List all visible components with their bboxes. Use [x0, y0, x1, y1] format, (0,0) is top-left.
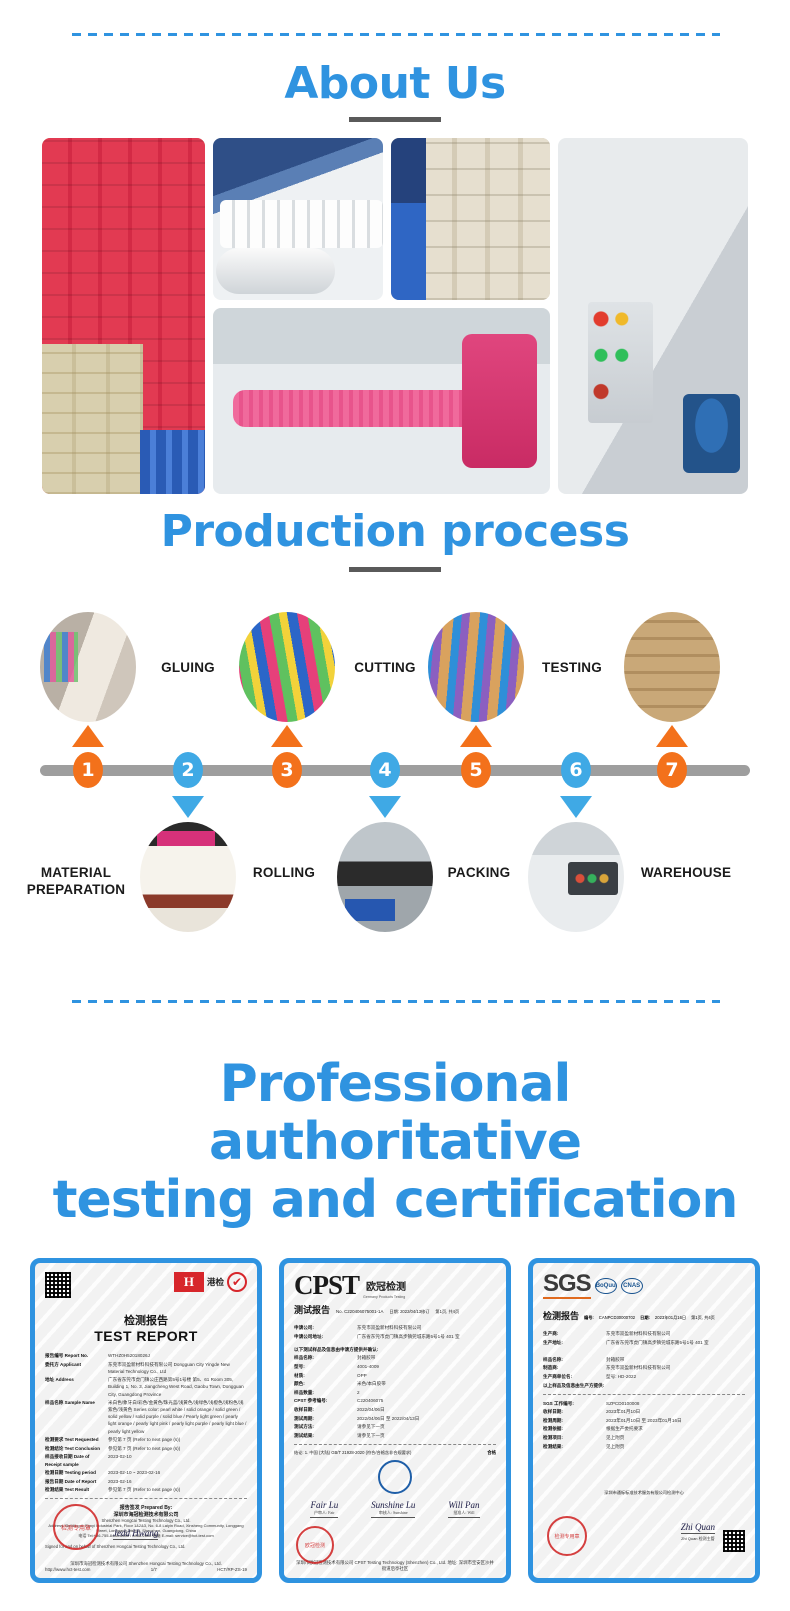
field-value: 见上附页 [606, 1443, 745, 1450]
blue-round-seal [378, 1460, 412, 1494]
cpst-report-no: No. C220406075001-1A [336, 1309, 383, 1314]
table-row: 检测周期:2023年01月10日 至 2023年01月16日 [543, 1417, 745, 1424]
table-row: 生产地址:广东省东莞市虎门镇高步镇莞城东路5号1号 401 室 [543, 1339, 745, 1346]
signature-role: 批准人: Will [448, 1510, 479, 1516]
field-value: 2022/04/06日 至 2022/04/13日 [357, 1415, 496, 1422]
cpst-date: 日期: 2022/04/13修订 [389, 1309, 429, 1315]
field-value: 东莞市双盈新材料科技有限公司 [357, 1324, 496, 1331]
certificate-field-rows: 报告编号 Report No.WTHZ0H52018026J 委托方 Appli… [45, 1352, 247, 1493]
step-label-testing: TESTING [507, 660, 637, 677]
field-value: 2023-02-10 ~ 2023-02-16 [108, 1469, 247, 1476]
table-row: 样品名称:封箱胶带 [543, 1356, 745, 1363]
step-pointer-up-3 [271, 725, 303, 747]
field-key: 检测要求 Test Requested [45, 1436, 103, 1443]
field-key: 以下测试样品及信息由申请方提供并确认: [294, 1346, 496, 1353]
red-company-stamp: 欧冠检测 [296, 1526, 334, 1564]
sgs-footer-note: 深圳市通标标准技术服务有限公司检测中心 [543, 1490, 745, 1496]
red-company-stamp: 检测专用章 [53, 1504, 99, 1550]
field-value: 2023-02-10 [108, 1453, 247, 1467]
step-image-testing [528, 822, 624, 932]
table-row: 报告编号 Report No.WTHZ0H52018026J [45, 1352, 247, 1359]
certificate-test-report[interactable]: H 港检 ✔ 检测报告 TEST REPORT 报告编号 Report No.W… [30, 1258, 262, 1583]
certificate-cpst-report[interactable]: CPST 欧冠检测 Germany Products Testing 测试报告 … [279, 1258, 511, 1583]
field-value: SZPCD0100008 [606, 1400, 745, 1407]
table-row: 检测日期 Testing period2023-02-10 ~ 2023-02-… [45, 1469, 247, 1476]
certificate-field-rows: 申请公司:东莞市双盈新材料科技有限公司 申请公司地址:广东省东莞市虎门镇高步镇莞… [294, 1324, 496, 1439]
table-row: 检测依据:根据生产委托要求 [543, 1425, 745, 1432]
field-value: 东莞市双盈新材料科技有限公司 [606, 1364, 745, 1371]
field-key: 地址 Address [45, 1376, 103, 1397]
step-pointer-up-1 [72, 725, 104, 747]
table-row: 以上样品及信息由生产方提供: [543, 1382, 745, 1389]
photo-white-tape-roll-stacks [391, 138, 550, 300]
field-value: 2022/04/06日 [357, 1406, 496, 1413]
table-row: 型号:4001-4009 [294, 1363, 496, 1370]
table-row: 颜色:米色/本白胶带 [294, 1380, 496, 1387]
field-key: 型号: [294, 1363, 352, 1370]
field-value: C220406075 [357, 1397, 496, 1404]
cpst-brand-cn: 欧冠检测 [366, 1282, 406, 1293]
qr-code-icon [723, 1530, 745, 1552]
divider [543, 1394, 745, 1395]
signature: Zhi Quan [681, 1522, 715, 1534]
table-row: 检测项目:见上附页 [543, 1434, 745, 1441]
field-key: 检测周期: [543, 1417, 601, 1424]
field-value: 2023年01月10日 至 2023年01月16日 [606, 1417, 745, 1424]
field-value: 东莞市双盈新材料科技有限公司 [606, 1330, 745, 1337]
field-key: 颜色: [294, 1380, 352, 1387]
about-us-heading: About Us [0, 62, 790, 106]
signature-role: 户审人: Fair [310, 1510, 338, 1516]
step-number-3[interactable]: 3 [272, 752, 302, 788]
table-row: 材质:OPP [294, 1372, 496, 1379]
field-value: 封箱胶带 [357, 1354, 496, 1361]
field-key: 报告编号 Report No. [45, 1352, 103, 1359]
signature-will-pan: Will Pan批准人: Will [448, 1500, 479, 1518]
field-key: 测试方法: [294, 1423, 352, 1430]
sgs-page: 第1页, 共4页 [691, 1315, 715, 1321]
cpst-title-cn: 测试报告 [294, 1303, 330, 1316]
step-label-warehouse: WAREHOUSE [621, 865, 751, 882]
field-key: 生产商单位名: [543, 1373, 601, 1380]
field-key: 样品名称: [543, 1356, 601, 1363]
boqu-accreditation-icon: BoQuu [595, 1278, 617, 1294]
mid-dashed-divider [72, 1000, 720, 1003]
field-key: SGS 工作编号: [543, 1400, 601, 1407]
qr-code-icon [45, 1272, 71, 1298]
sgs-title-cn: 检测报告 [543, 1309, 579, 1322]
field-value: 根据生产委托要求 [606, 1425, 745, 1432]
about-us-photo-collage [42, 138, 748, 494]
table-row: 申请公司地址:广东省东莞市虎门镇高步镇莞城东路5号1号 401 室 [294, 1333, 496, 1340]
cpst-page: 第1页, 共4页 [435, 1309, 459, 1315]
field-key: 检测结果 Test Result [45, 1486, 103, 1493]
step-pointer-down-6 [560, 796, 592, 818]
field-key: 样品名称 Sample Name [45, 1399, 103, 1435]
table-row: 生产商:东莞市双盈新材料科技有限公司 [543, 1330, 745, 1337]
cpst-brand-logo: CPST [294, 1272, 359, 1299]
sgs-report-no: CANPCD30000702 [599, 1315, 635, 1320]
photo-control-panel-production-line [558, 138, 748, 494]
field-value: 见上附页 [606, 1434, 745, 1441]
table-row: 样品名称:封箱胶带 [294, 1354, 496, 1361]
table-row: 样品接收日期 Date of Receipt sample2023-02-10 [45, 1453, 247, 1467]
field-value: 东莞市双盈新材料科技有限公司 Dongguan City Yingde New … [108, 1361, 247, 1375]
field-value: 参见第 7 页 (Refer to next page (s)) [108, 1445, 247, 1452]
field-key: 收样日期: [294, 1406, 352, 1413]
field-value: 4001-4009 [357, 1363, 496, 1370]
table-row: 测试周期:2022/04/06日 至 2022/04/13日 [294, 1415, 496, 1422]
field-value: 参见第 7 页 (Refer to next page (s)) [108, 1486, 247, 1493]
hk-brand-logo: H [174, 1272, 204, 1292]
field-value: 米色/本白胶带 [357, 1380, 496, 1387]
certification-heading-line1: Professional authoritative [209, 1054, 581, 1172]
table-row: 收样日期:2023年01月10日 [543, 1408, 745, 1415]
field-key: 材质: [294, 1372, 352, 1379]
field-value: WTHZ0H52018026J [108, 1352, 247, 1359]
field-key: 测试结果: [294, 1432, 352, 1439]
field-key: 检测结果: [543, 1443, 601, 1450]
cnas-accreditation-icon: CNAS [621, 1278, 643, 1294]
step-number-4[interactable]: 4 [370, 752, 400, 788]
certificates-row: H 港检 ✔ 检测报告 TEST REPORT 报告编号 Report No.W… [30, 1258, 760, 1583]
cpst-pass-badge: 合格 [487, 1450, 496, 1456]
top-dashed-divider [72, 33, 720, 36]
photo-colored-tape-rolls-warehouse [42, 138, 205, 494]
field-key: 以上样品及信息由生产方提供: [543, 1382, 745, 1389]
field-key: 申请公司地址: [294, 1333, 352, 1340]
field-value: 参见第 7 页 (Refer to next page (s)) [108, 1436, 247, 1443]
field-key: 报告日期 Date of Report [45, 1478, 103, 1485]
step-label-packing: PACKING [414, 865, 544, 882]
step-label-gluing: GLUING [123, 660, 253, 677]
field-key: 制造商: [543, 1364, 601, 1371]
signature-role: 审核人: Sunshine [371, 1510, 415, 1516]
field-key: 检测日期 Testing period [45, 1469, 103, 1476]
field-key: 检测依据: [543, 1425, 601, 1432]
step-number-2[interactable]: 2 [173, 752, 203, 788]
table-row: 检测要求 Test Requested参见第 7 页 (Refer to nex… [45, 1436, 247, 1443]
cpst-conclusion: 结论: 1. 中国 (大陆) GB/T 21928-2020 (符合/合格含非合… [294, 1450, 411, 1456]
field-key: 样品接收日期 Date of Receipt sample [45, 1453, 103, 1467]
table-row: 生产商单位名:型号: HD-2022 [543, 1373, 745, 1380]
certification-heading-line2: testing and certification [53, 1170, 738, 1230]
field-value: 广东省东莞市虎门镇高步镇莞城东路5号1号 401 室 [606, 1339, 745, 1346]
field-key: 委托方 Applicant [45, 1361, 103, 1375]
signature-sunshine-lu: Sunshine Lu审核人: Sunshine [371, 1500, 415, 1518]
step-number-7[interactable]: 7 [657, 752, 687, 788]
hk-brand-cn: 港检 [207, 1276, 224, 1288]
certificate-field-rows: 生产商:东莞市双盈新材料科技有限公司 生产地址:广东省东莞市虎门镇高步镇莞城东路… [543, 1330, 745, 1450]
production-timeline: 1 MATERIALPREPARATION 2 GLUING 3 ROLLING… [0, 600, 790, 930]
sgs-brand-logo: SGS [543, 1272, 591, 1299]
field-key: 样品名称: [294, 1354, 352, 1361]
footer-page: 1/7 [151, 1567, 157, 1572]
cpst-brand-sub: Germany Products Testing [363, 1295, 406, 1299]
field-value: 请参见下一页 [357, 1432, 496, 1439]
signature: Jedd Hwang [113, 1528, 158, 1540]
field-key: 生产商: [543, 1330, 601, 1337]
sgs-report-no-label: 编号: [584, 1315, 594, 1321]
step-pointer-up-7 [656, 725, 688, 747]
step-number-1[interactable]: 1 [73, 752, 103, 788]
table-row: 检测结果:见上附页 [543, 1443, 745, 1450]
field-value: 型号: HD-2022 [606, 1373, 745, 1380]
table-row: 申请公司:东莞市双盈新材料科技有限公司 [294, 1324, 496, 1331]
field-value: 封箱胶带 [606, 1356, 745, 1363]
field-key: 样品数量: [294, 1389, 352, 1396]
certification-heading: Professional authoritative testing and c… [0, 1055, 790, 1230]
table-row: CPST 参考编号:C220406075 [294, 1397, 496, 1404]
sgs-date-label: 日期: [640, 1315, 650, 1321]
field-value: 2023年01月10日 [606, 1408, 745, 1415]
table-row: 报告日期 Date of Report2023-02-16 [45, 1478, 247, 1485]
field-value: 请参见下一页 [357, 1423, 496, 1430]
field-key: 测试周期: [294, 1415, 352, 1422]
table-row: SGS 工作编号:SZPCD0100008 [543, 1400, 745, 1407]
photo-slitting-machine-white-tape [213, 138, 383, 300]
step-number-6[interactable]: 6 [561, 752, 591, 788]
step-label-rolling: ROLLING [219, 865, 349, 882]
field-value: 广东省东莞市虎门镇公庄西路第5号1号楼 第5、61 Room 305, Buil… [108, 1376, 247, 1397]
field-value: 米白色/象牙白/彩色/金黄色/珠光蓝/浅黄色/浅绿色/浅橙色/浅粉色/浅紫色/浅… [108, 1399, 247, 1435]
field-value: 广东省东莞市虎门镇高步镇莞城东路5号1号 401 室 [357, 1333, 496, 1340]
footer-doc-code: HCT/RP-ZS-19 [217, 1567, 247, 1572]
step-pointer-down-2 [172, 796, 204, 818]
table-row: 地址 Address广东省东莞市虎门镇公庄西路第5号1号楼 第5、61 Room… [45, 1376, 247, 1397]
field-key: 检测项目: [543, 1434, 601, 1441]
step-number-5[interactable]: 5 [461, 752, 491, 788]
photo-pink-tape-production-machine [213, 308, 550, 494]
table-row: 委托方 Applicant东莞市双盈新材料科技有限公司 Dongguan Cit… [45, 1361, 247, 1375]
table-row: 样品数量:2 [294, 1389, 496, 1396]
certificate-title-cn: 检测报告 [45, 1312, 247, 1328]
production-process-underline [349, 567, 441, 572]
signature-row: Fair Lu户审人: Fair Sunshine Lu审核人: Sunshin… [294, 1500, 496, 1518]
step-label-material-preparation: MATERIALPREPARATION [11, 865, 141, 899]
field-key: CPST 参考编号: [294, 1397, 352, 1404]
divider [294, 1444, 496, 1445]
about-us-underline [349, 117, 441, 122]
field-key: 申请公司: [294, 1324, 352, 1331]
certificate-header: H 港检 ✔ [45, 1272, 247, 1300]
table-row: 检测结果 Test Result参见第 7 页 (Refer to next p… [45, 1486, 247, 1493]
certificate-title-en: TEST REPORT [45, 1328, 247, 1344]
table-row: 检测结论 Test Conclusion参见第 7 页 (Refer to ne… [45, 1445, 247, 1452]
step-image-warehouse [624, 612, 720, 722]
step-pointer-up-5 [460, 725, 492, 747]
production-process-heading: Production process [0, 510, 790, 554]
certificate-footer: 深圳市海冠检测技术有限公司 Shenzhen Hongcai Testing T… [35, 1561, 257, 1572]
certificate-sgs-report[interactable]: SGS BoQuu CNAS 检测报告 编号: CANPCD30000702 日… [528, 1258, 760, 1583]
sgs-signature-block: Zhi Quan Zhi Quan 检测主管 [681, 1522, 715, 1542]
field-key: 生产地址: [543, 1339, 601, 1346]
table-row: 以下测试样品及信息由申请方提供并确认: [294, 1346, 496, 1353]
signature-role: Zhi Quan 检测主管 [681, 1536, 715, 1542]
field-key: 收样日期: [543, 1408, 601, 1415]
table-row: 制造商:东莞市双盈新材料科技有限公司 [543, 1364, 745, 1371]
footer-url[interactable]: http://www.hct-test.com [45, 1567, 90, 1572]
red-company-stamp: 检测专用章 [547, 1516, 587, 1556]
field-value: OPP [357, 1372, 496, 1379]
table-row: 收样日期:2022/04/06日 [294, 1406, 496, 1413]
table-row: 测试方法:请参见下一页 [294, 1423, 496, 1430]
field-value: 2023-02-16 [108, 1478, 247, 1485]
step-pointer-down-4 [369, 796, 401, 818]
field-value: 2 [357, 1389, 496, 1396]
signature-fair-lu: Fair Lu户审人: Fair [310, 1500, 338, 1518]
verified-check-icon: ✔ [227, 1272, 247, 1292]
divider [45, 1498, 247, 1499]
table-row: 测试结果:请参见下一页 [294, 1432, 496, 1439]
table-row: 样品名称 Sample Name米白色/象牙白/彩色/金黄色/珠光蓝/浅黄色/浅… [45, 1399, 247, 1435]
step-image-material-preparation [40, 612, 136, 722]
field-key: 检测结论 Test Conclusion [45, 1445, 103, 1452]
sgs-date: 2023年01月16日 [655, 1315, 686, 1321]
